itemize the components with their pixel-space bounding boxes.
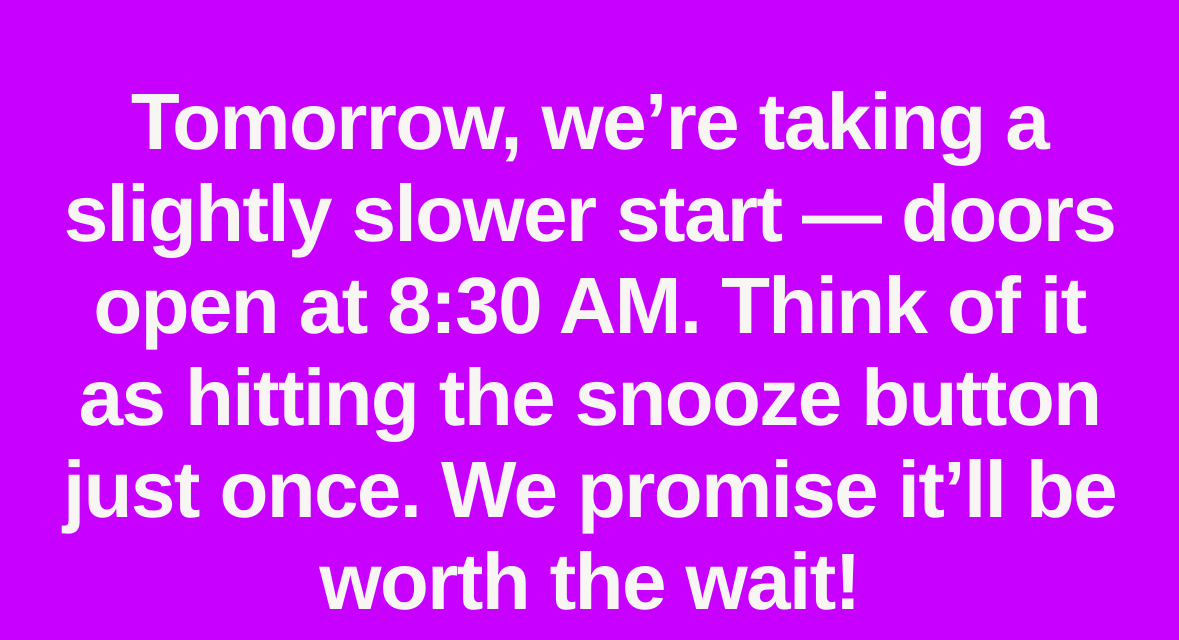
text-line-4: as hitting the snooze button	[24, 352, 1155, 444]
text-line-3: open at 8:30 AM. Think of it	[24, 260, 1155, 352]
text-line-6: worth the wait!	[24, 536, 1155, 628]
text-line-2: slightly slower start — doors	[24, 168, 1155, 260]
announcement-text-block: Tomorrow, we’re taking a slightly slower…	[0, 0, 1179, 640]
announcement-graphic: Tomorrow, we’re taking a slightly slower…	[0, 0, 1179, 640]
text-line-5: just once. We promise it’ll be	[24, 444, 1155, 536]
text-line-1: Tomorrow, we’re taking a	[24, 76, 1155, 168]
